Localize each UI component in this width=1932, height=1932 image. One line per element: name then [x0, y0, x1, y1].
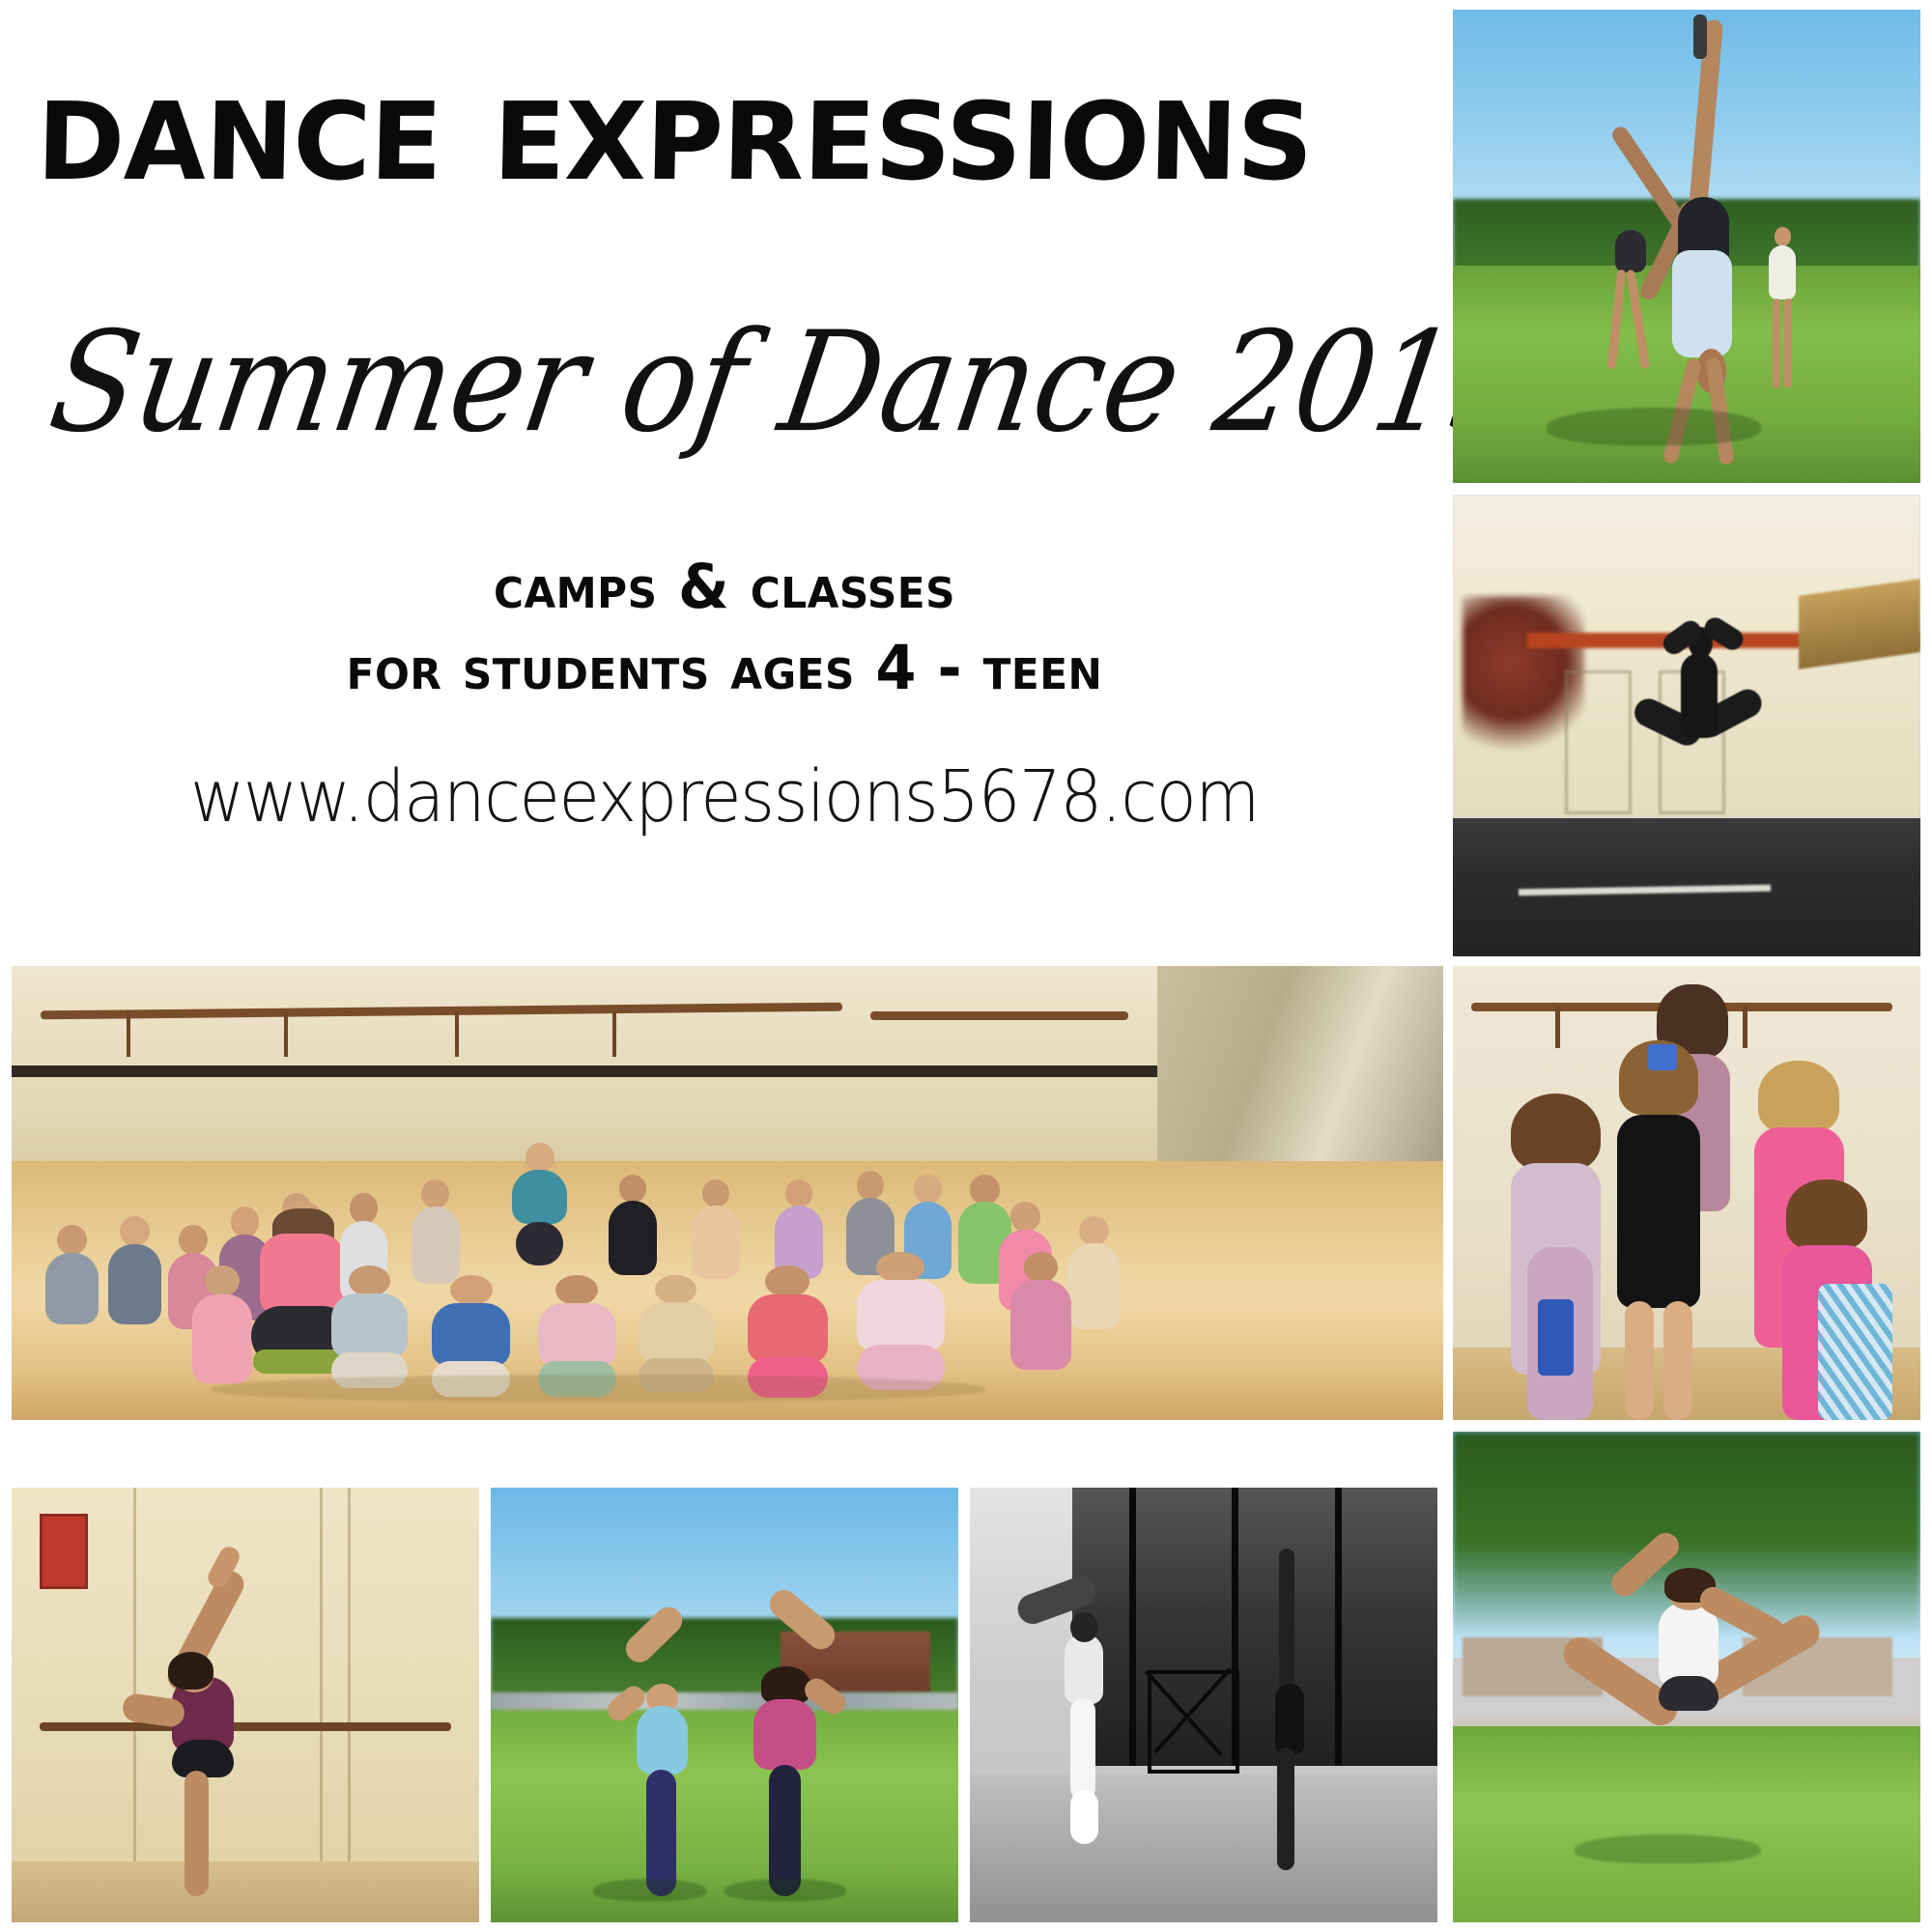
- text-panel: Dance Expressions Summer of Dance 2015 C…: [0, 0, 1449, 956]
- photo-group-pose: [1453, 966, 1920, 1420]
- photo-bw-studio: [970, 1488, 1437, 1922]
- photo-outdoor-leap: [1453, 1432, 1920, 1922]
- photo-lawn-duo: [491, 1488, 958, 1922]
- poster-canvas: Dance Expressions Summer of Dance 2015 C…: [0, 0, 1932, 1932]
- page-title: Dance Expressions: [36, 50, 1397, 203]
- photo-outdoor-handstand: [1453, 10, 1920, 483]
- website-url: www.danceexpressions5678.com: [51, 761, 1399, 833]
- script-subtitle: Summer of Dance 2015: [42, 311, 1427, 457]
- photo-studio-group: [12, 966, 1443, 1420]
- photo-leap-building: [1453, 495, 1920, 956]
- subtitle-line-1: Camps & Classes: [29, 556, 1420, 617]
- subtitle-line-2: For Students Ages 4 - Teen: [29, 638, 1420, 698]
- photo-barre-arabesque: [12, 1488, 479, 1922]
